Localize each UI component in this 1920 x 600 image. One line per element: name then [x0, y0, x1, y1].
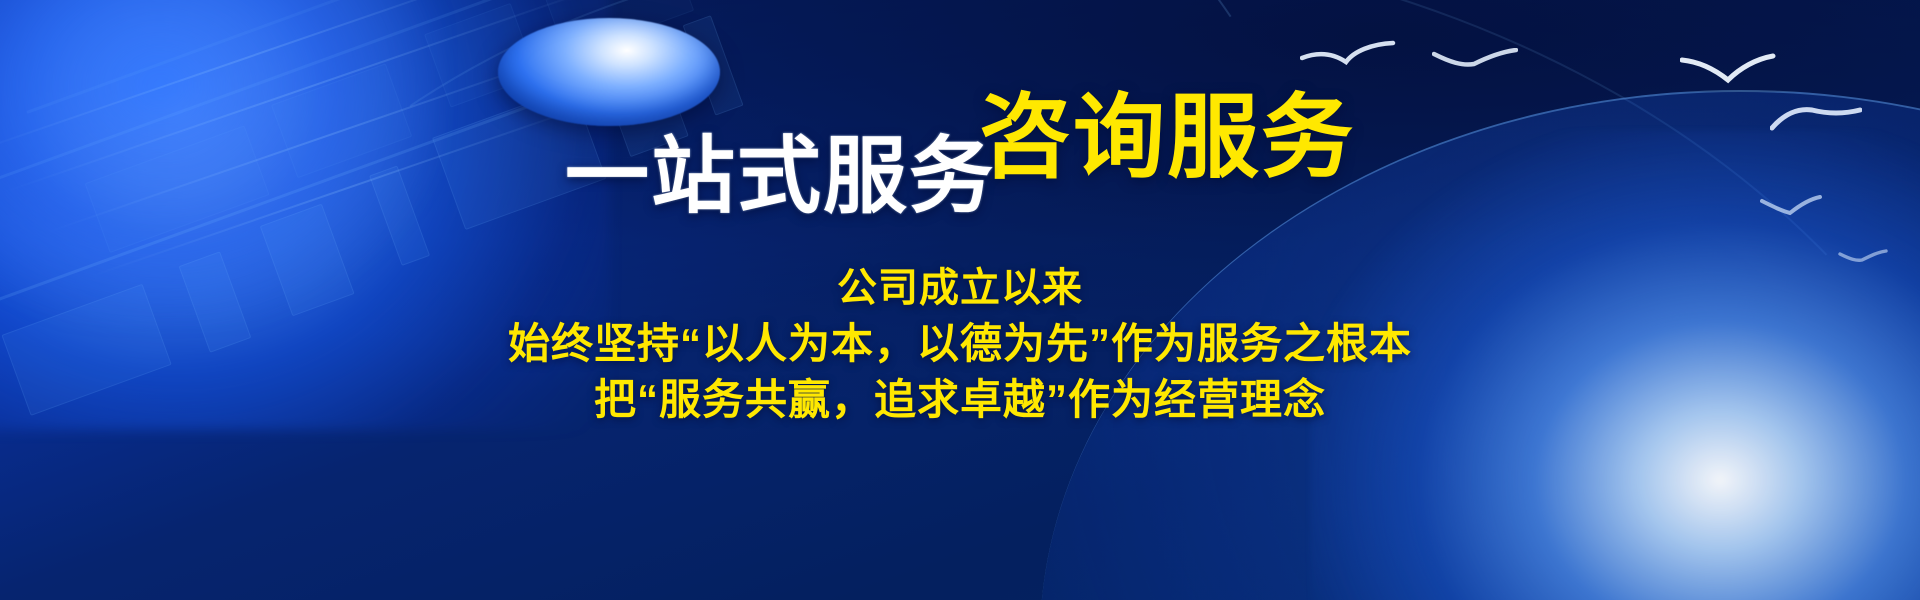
- glow-bottom-right: [1310, 130, 1920, 600]
- seagull-icon: [1300, 40, 1396, 74]
- glossy-blue-ellipse: [498, 18, 720, 126]
- seagull-icon: [1838, 248, 1888, 264]
- seagull-icon: [1432, 48, 1518, 78]
- promo-banner: 一站式服务 咨询服务 公司成立以来 始终坚持“以人为本，以德为先”作为服务之根本…: [0, 0, 1920, 600]
- seagull-icon: [1760, 195, 1822, 217]
- seagull-icon: [1770, 100, 1862, 132]
- seagull-icon: [1680, 50, 1776, 88]
